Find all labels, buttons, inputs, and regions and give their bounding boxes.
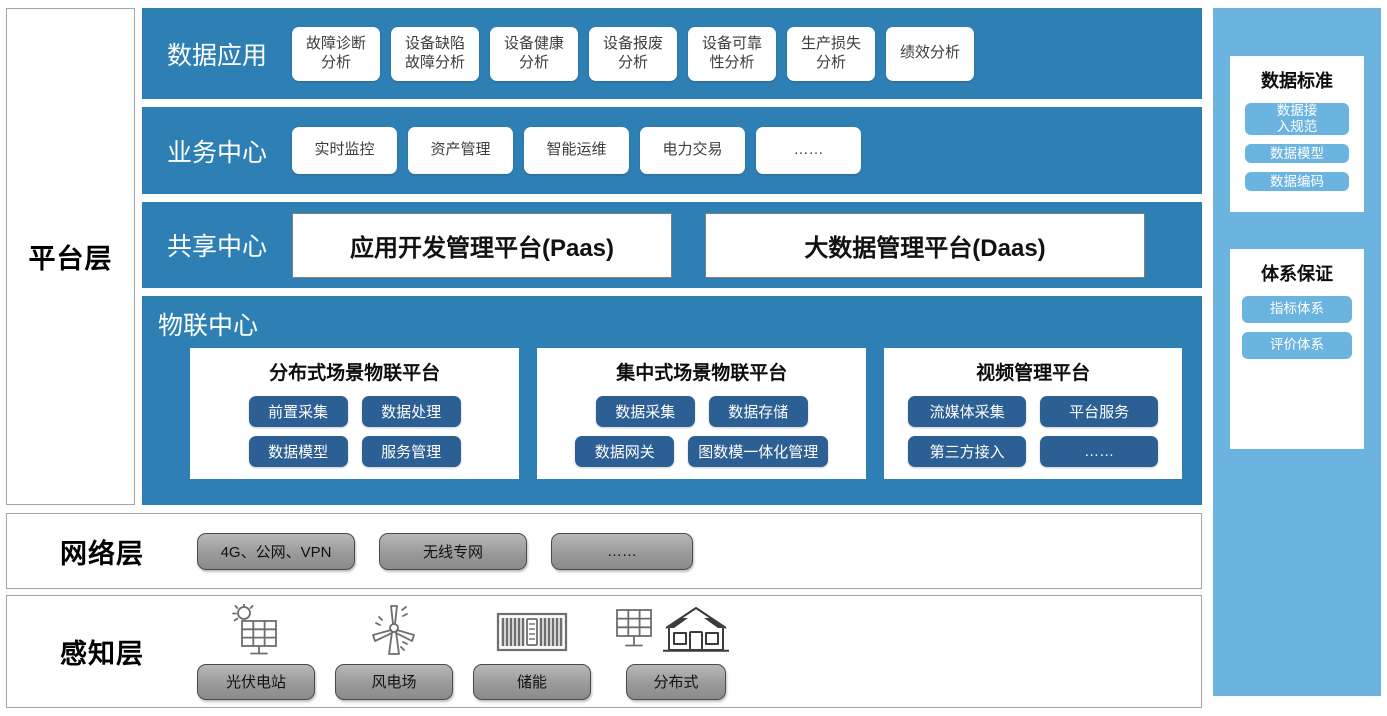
network-chip-more[interactable]: …… bbox=[551, 533, 693, 570]
standards-sidebar: 数据标准 数据接 入规范 数据模型 数据编码 体系保证 指标体系 评价体系 bbox=[1213, 8, 1381, 696]
chip-equipment-scrap[interactable]: 设备报废 分析 bbox=[589, 27, 677, 81]
chip-power-trading[interactable]: 电力交易 bbox=[640, 127, 745, 174]
distributed-house-solar-icon bbox=[611, 604, 741, 658]
wind-turbine-icon bbox=[356, 604, 432, 658]
chip-asset-management[interactable]: 资产管理 bbox=[408, 127, 513, 174]
iot-card-centralized-scene: 集中式场景物联平台 数据采集 数据存储 数据网关 图数模一体化管理 bbox=[537, 348, 866, 479]
btn-data-collection[interactable]: 数据采集 bbox=[596, 396, 695, 427]
data-application-chip-row: 故障诊断 分析 设备缺陷 故障分析 设备健康 分析 设备报废 分析 设备可靠 性… bbox=[292, 27, 974, 81]
chip-fault-diagnosis[interactable]: 故障诊断 分析 bbox=[292, 27, 380, 81]
btn-front-end-collection[interactable]: 前置采集 bbox=[249, 396, 348, 427]
band-iot-center: 物联中心 分布式场景物联平台 前置采集 数据处理 数据模型 服务管理 集中式场景… bbox=[142, 296, 1202, 505]
iot-card-title-centralized: 集中式场景物联平台 bbox=[616, 358, 787, 385]
band-data-application: 数据应用 故障诊断 分析 设备缺陷 故障分析 设备健康 分析 设备报废 分析 设… bbox=[142, 8, 1202, 99]
platform-layer-label-box: 平台层 bbox=[6, 8, 135, 505]
perception-chip-wind-farm[interactable]: 风电场 bbox=[335, 664, 453, 700]
iot-card-row: 分布式场景物联平台 前置采集 数据处理 数据模型 服务管理 集中式场景物联平台 … bbox=[154, 348, 1190, 479]
network-chip-wireless-private[interactable]: 无线专网 bbox=[379, 533, 527, 570]
side-btn-data-access-spec[interactable]: 数据接 入规范 bbox=[1245, 103, 1349, 135]
perception-item-wind-farm: 风电场 bbox=[335, 604, 453, 700]
iot-card-distributed-scene: 分布式场景物联平台 前置采集 数据处理 数据模型 服务管理 bbox=[190, 348, 519, 479]
solar-panel-sun-icon bbox=[218, 604, 294, 658]
perception-chip-distributed[interactable]: 分布式 bbox=[626, 664, 726, 700]
platform-layer-label: 平台层 bbox=[29, 237, 113, 276]
side-btn-evaluation-system[interactable]: 评价体系 bbox=[1242, 332, 1352, 359]
chip-smart-ops[interactable]: 智能运维 bbox=[524, 127, 629, 174]
perception-item-distributed: 分布式 bbox=[611, 604, 741, 700]
battery-storage-icon bbox=[492, 604, 572, 658]
band-shared-center: 共享中心 应用开发管理平台(Paas) 大数据管理平台(Daas) bbox=[142, 202, 1202, 288]
perception-layer: 感知层 bbox=[6, 595, 1202, 708]
btn-data-gateway[interactable]: 数据网关 bbox=[575, 436, 674, 467]
perception-chip-photovoltaic[interactable]: 光伏电站 bbox=[197, 664, 315, 700]
chip-business-more[interactable]: …… bbox=[756, 127, 861, 174]
perception-layer-label: 感知层 bbox=[7, 632, 197, 671]
chip-production-loss[interactable]: 生产损失 分析 bbox=[787, 27, 875, 81]
chip-equipment-health[interactable]: 设备健康 分析 bbox=[490, 27, 578, 81]
perception-chip-energy-storage[interactable]: 储能 bbox=[473, 664, 591, 700]
btn-data-storage[interactable]: 数据存储 bbox=[709, 396, 808, 427]
btn-streaming-collection[interactable]: 流媒体采集 bbox=[908, 396, 1026, 427]
band-business-center: 业务中心 实时监控 资产管理 智能运维 电力交易 …… bbox=[142, 107, 1202, 194]
perception-item-row: 光伏电站 bbox=[197, 604, 741, 700]
sidebar-card-title-system-assurance: 体系保证 bbox=[1261, 260, 1333, 286]
btn-graph-data-model-integration[interactable]: 图数模一体化管理 bbox=[688, 436, 828, 467]
side-btn-data-encoding[interactable]: 数据编码 bbox=[1245, 172, 1349, 191]
network-chip-4g-public-vpn[interactable]: 4G、公网、VPN bbox=[197, 533, 355, 570]
sidebar-card-system-assurance: 体系保证 指标体系 评价体系 bbox=[1230, 249, 1364, 449]
business-center-chip-row: 实时监控 资产管理 智能运维 电力交易 …… bbox=[292, 127, 861, 174]
btn-third-party-access[interactable]: 第三方接入 bbox=[908, 436, 1026, 467]
side-btn-data-model[interactable]: 数据模型 bbox=[1245, 144, 1349, 163]
iot-card-title-video: 视频管理平台 bbox=[976, 358, 1090, 385]
iot-button-grid-centralized: 数据采集 数据存储 数据网关 图数模一体化管理 bbox=[549, 396, 854, 467]
iot-button-grid-distributed: 前置采集 数据处理 数据模型 服务管理 bbox=[202, 396, 507, 467]
architecture-diagram: 平台层 数据应用 故障诊断 分析 设备缺陷 故障分析 设备健康 分析 设备报废 … bbox=[0, 0, 1387, 716]
btn-data-processing[interactable]: 数据处理 bbox=[362, 396, 461, 427]
btn-platform-service[interactable]: 平台服务 bbox=[1040, 396, 1158, 427]
chip-equipment-defect[interactable]: 设备缺陷 故障分析 bbox=[391, 27, 479, 81]
platform-paas[interactable]: 应用开发管理平台(Paas) bbox=[292, 213, 672, 278]
band-title-shared-center: 共享中心 bbox=[142, 227, 292, 263]
btn-video-more[interactable]: …… bbox=[1040, 436, 1158, 467]
sidebar-card-title-data-standard: 数据标准 bbox=[1261, 67, 1333, 93]
band-title-iot-center: 物联中心 bbox=[158, 306, 1190, 342]
network-layer: 网络层 4G、公网、VPN 无线专网 …… bbox=[6, 513, 1202, 589]
perception-item-energy-storage: 储能 bbox=[473, 604, 591, 700]
shared-center-platform-row: 应用开发管理平台(Paas) 大数据管理平台(Daas) bbox=[292, 213, 1145, 278]
btn-data-model[interactable]: 数据模型 bbox=[249, 436, 348, 467]
btn-service-management[interactable]: 服务管理 bbox=[362, 436, 461, 467]
iot-button-grid-video: 流媒体采集 平台服务 第三方接入 …… bbox=[896, 396, 1170, 467]
band-title-business-center: 业务中心 bbox=[142, 133, 292, 169]
network-chip-row: 4G、公网、VPN 无线专网 …… bbox=[197, 533, 693, 570]
side-btn-indicator-system[interactable]: 指标体系 bbox=[1242, 296, 1352, 323]
band-title-data-application: 数据应用 bbox=[142, 36, 292, 72]
chip-performance-analysis[interactable]: 绩效分析 bbox=[886, 27, 974, 81]
iot-card-video-management: 视频管理平台 流媒体采集 平台服务 第三方接入 …… bbox=[884, 348, 1182, 479]
iot-card-title-distributed: 分布式场景物联平台 bbox=[269, 358, 440, 385]
chip-equipment-reliability[interactable]: 设备可靠 性分析 bbox=[688, 27, 776, 81]
platform-layer-stack: 数据应用 故障诊断 分析 设备缺陷 故障分析 设备健康 分析 设备报废 分析 设… bbox=[142, 8, 1202, 505]
sidebar-card-data-standard: 数据标准 数据接 入规范 数据模型 数据编码 bbox=[1230, 56, 1364, 212]
perception-item-photovoltaic: 光伏电站 bbox=[197, 604, 315, 700]
platform-daas[interactable]: 大数据管理平台(Daas) bbox=[705, 213, 1145, 278]
chip-realtime-monitoring[interactable]: 实时监控 bbox=[292, 127, 397, 174]
network-layer-label: 网络层 bbox=[7, 532, 197, 571]
